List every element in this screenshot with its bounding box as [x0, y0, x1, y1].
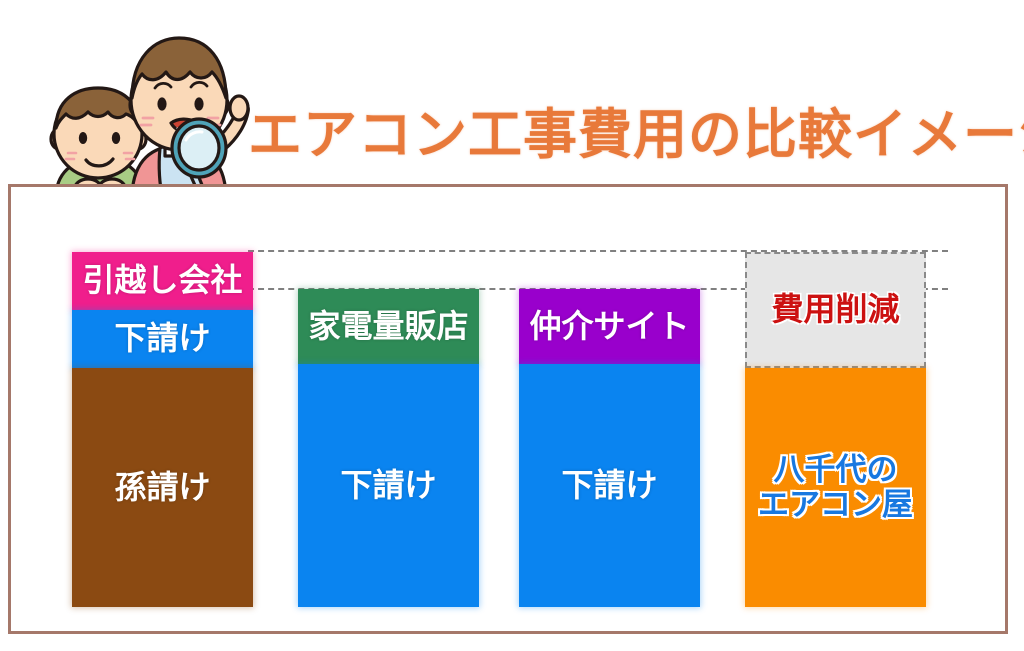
bar-moving-company-label-3: 孫請け: [114, 470, 210, 506]
bar-broker-site-segment-2[interactable]: 下請け: [519, 364, 700, 607]
bar-electronics-retailer-segment-1[interactable]: 家電量販店: [298, 289, 479, 364]
bar-moving-company-label-2: 下請け: [114, 321, 210, 357]
bar-broker-site-label-2: 下請け: [561, 468, 657, 504]
bar-broker-site-segment-1[interactable]: 仲介サイト: [519, 289, 700, 364]
infographic-canvas: エアコン工事費用の比較イメージ 引越し会社下請け孫請け家電量販店下請け仲介サイト…: [0, 0, 1024, 651]
bar-broker-site-label-1: 仲介サイト: [529, 309, 689, 345]
bar-yachiyo-aircon-label-2: 八千代の エアコン屋: [758, 453, 913, 522]
bar-moving-company[interactable]: 引越し会社下請け孫請け: [72, 252, 253, 607]
bar-yachiyo-aircon-label-1: 費用削減: [771, 292, 899, 328]
bar-electronics-retailer-segment-2[interactable]: 下請け: [298, 364, 479, 607]
bar-broker-site[interactable]: 仲介サイト下請け: [519, 289, 700, 607]
bar-moving-company-segment-1[interactable]: 引越し会社: [72, 252, 253, 310]
bar-moving-company-segment-2[interactable]: 下請け: [72, 310, 253, 368]
bar-electronics-retailer-label-2: 下請け: [340, 468, 436, 504]
bar-electronics-retailer[interactable]: 家電量販店下請け: [298, 289, 479, 607]
page-title: エアコン工事費用の比較イメージ: [248, 92, 1018, 166]
bar-yachiyo-aircon-segment-2[interactable]: 八千代の エアコン屋: [745, 368, 926, 607]
mother-and-child-illustration: [28, 8, 268, 196]
bar-yachiyo-aircon-segment-1[interactable]: 費用削減: [745, 252, 926, 368]
bar-yachiyo-aircon[interactable]: 費用削減八千代の エアコン屋: [745, 252, 926, 607]
bar-moving-company-label-1: 引越し会社: [82, 263, 242, 299]
bar-moving-company-segment-3[interactable]: 孫請け: [72, 368, 253, 607]
bar-electronics-retailer-label-1: 家電量販店: [308, 309, 468, 345]
